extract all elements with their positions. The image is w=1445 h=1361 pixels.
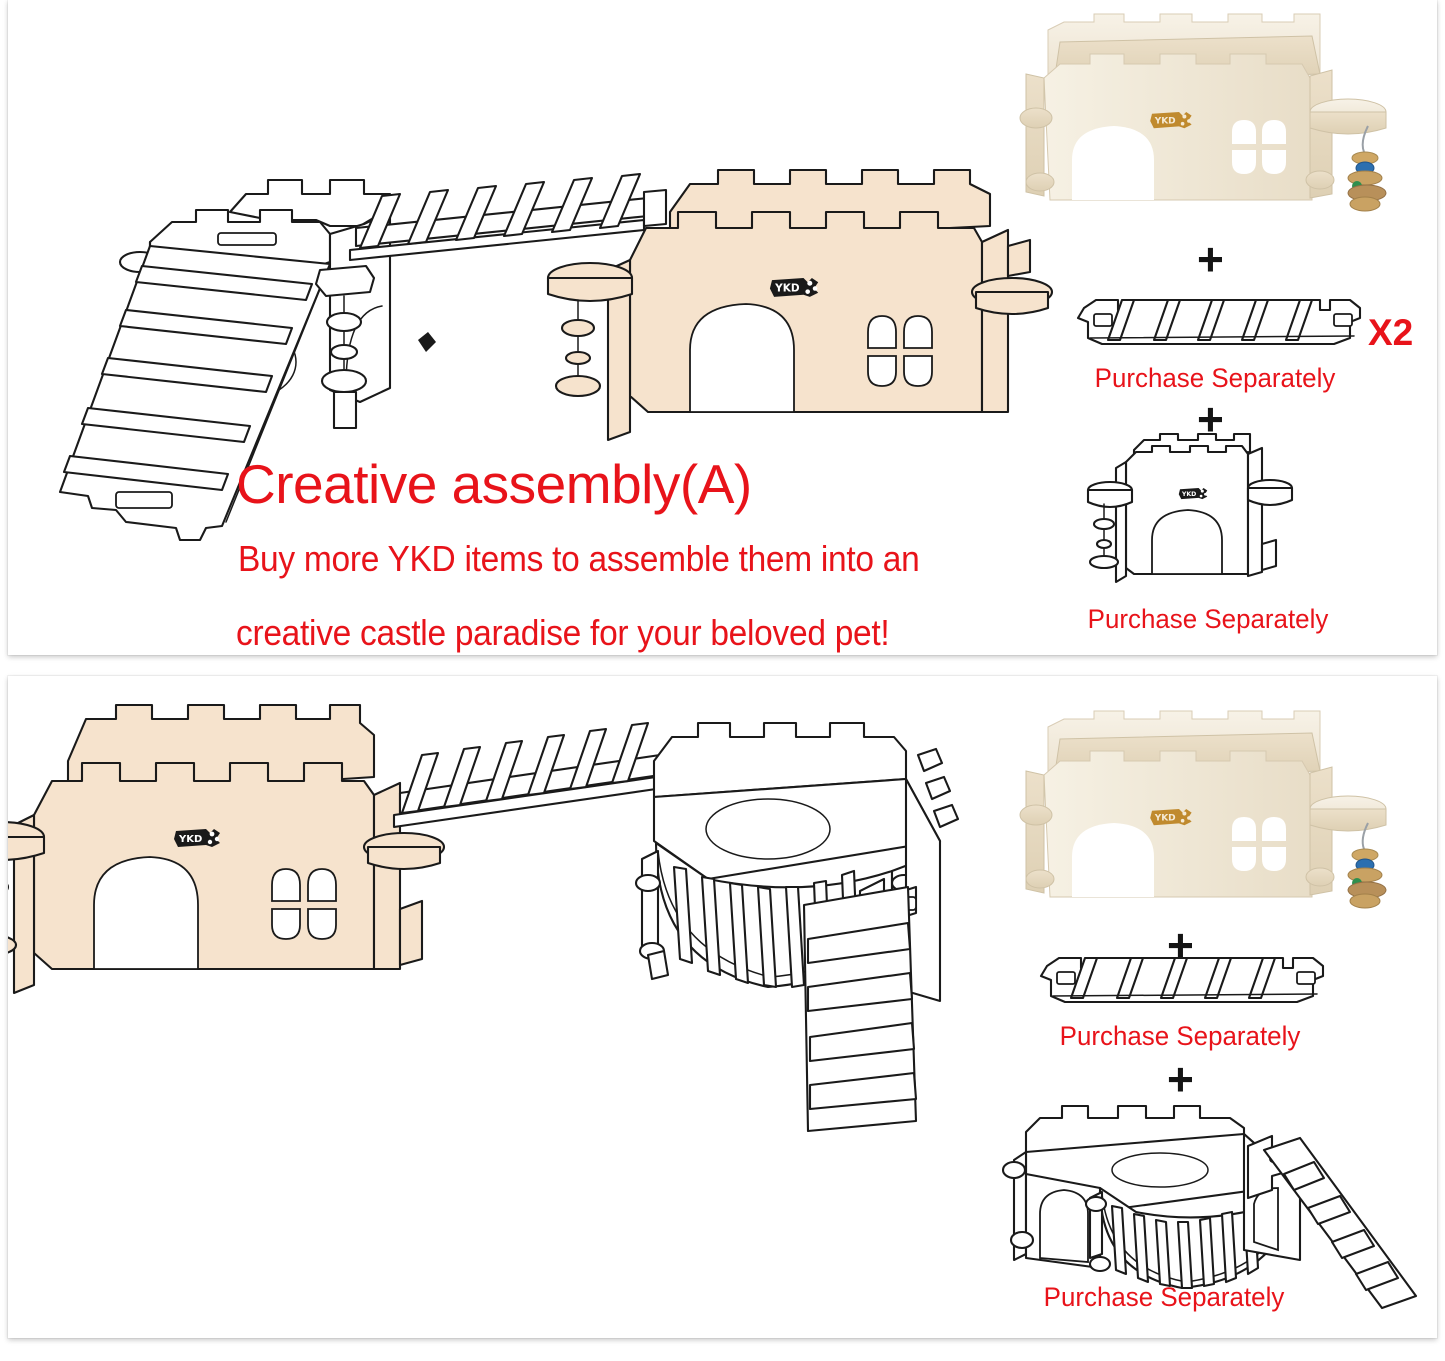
purchase-separately-label-a-bridge: Purchase Separately bbox=[1071, 363, 1359, 394]
panel-a-title: Creative assembly(A) bbox=[236, 452, 752, 516]
assembly-b-diagram: YKD bbox=[8, 701, 1008, 1261]
plus-symbol-a-1: + bbox=[1197, 236, 1224, 282]
bridge-part-b bbox=[1025, 950, 1345, 1020]
svg-text:YKD: YKD bbox=[178, 834, 202, 845]
svg-text:YKD: YKD bbox=[1181, 491, 1196, 498]
svg-text:YKD: YKD bbox=[774, 283, 800, 295]
purchase-separately-label-b-tower: Purchase Separately bbox=[1020, 1282, 1308, 1313]
ykd-logo-stamp: YKD bbox=[770, 278, 818, 297]
bridge-lineart bbox=[350, 174, 666, 260]
photo-castle-b: YKD bbox=[1020, 705, 1432, 919]
purchase-separately-label-a-castle: Purchase Separately bbox=[1064, 604, 1352, 635]
line-tower-part-b bbox=[996, 1092, 1436, 1312]
beige-castle-b: YKD bbox=[8, 705, 444, 993]
bridge-quantity-a: X2 bbox=[1368, 312, 1413, 354]
panel-a-line-1: Buy more YKD items to assemble them into… bbox=[238, 538, 919, 580]
tower-castle-lineart-b bbox=[636, 723, 958, 1131]
svg-text:YKD: YKD bbox=[1154, 814, 1176, 824]
line-castle-part-a: YKD bbox=[1090, 432, 1340, 602]
infographic-page: YKD Creative assembly(A) Buy more YKD it… bbox=[0, 0, 1445, 1361]
svg-text:YKD: YKD bbox=[1154, 117, 1176, 127]
bridge-part-a bbox=[1062, 292, 1382, 362]
purchase-separately-label-b-bridge: Purchase Separately bbox=[1036, 1021, 1324, 1052]
photo-castle-a: YKD bbox=[1020, 8, 1432, 222]
bridge-lineart-b bbox=[394, 723, 660, 827]
panel-a-line-2: creative castle paradise for your belove… bbox=[236, 612, 889, 654]
ykd-logo-stamp-b: YKD bbox=[174, 829, 220, 847]
